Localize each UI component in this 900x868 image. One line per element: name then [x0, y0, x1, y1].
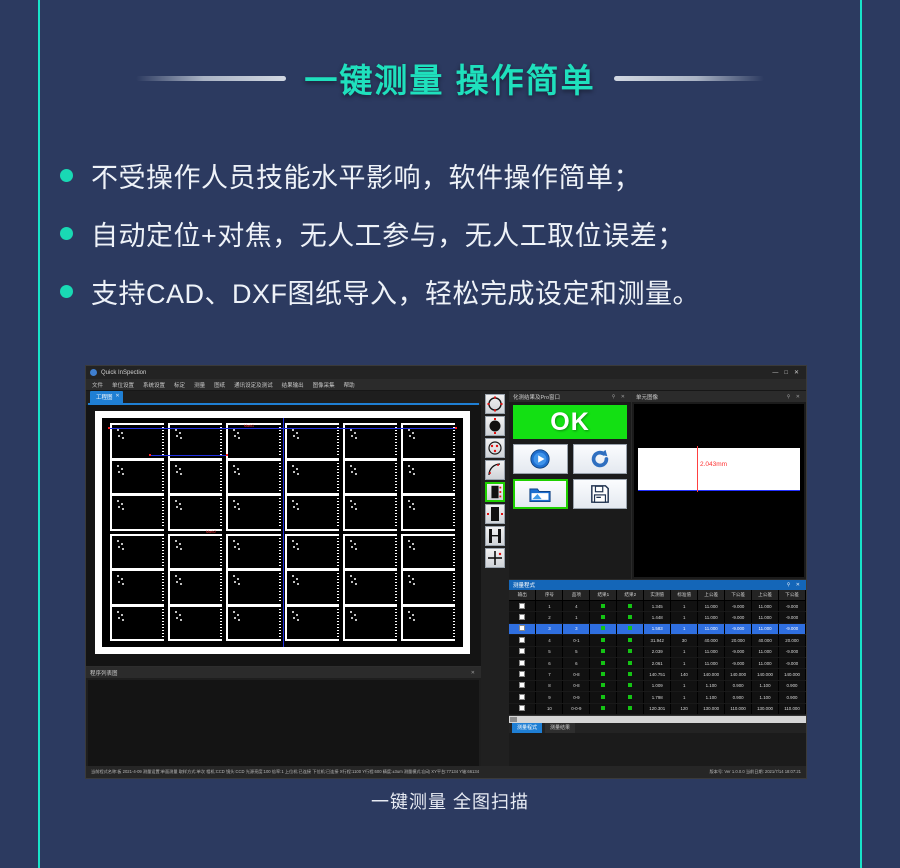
status-indicator [617, 623, 644, 634]
measure-line-vertical [283, 418, 284, 647]
table-cell: 0-0-9 [563, 703, 590, 714]
pcb-unit [401, 496, 455, 529]
table-row[interactable]: 80-81.00911.1000.9001.1000.900 [509, 680, 806, 691]
panel-title: 程序列表图 [90, 669, 118, 677]
table-cell: 140 [671, 669, 698, 680]
row-checkbox[interactable] [509, 623, 536, 634]
pcb-unit [110, 607, 164, 640]
status-indicator [617, 601, 644, 612]
table-cell: 9 [536, 692, 563, 703]
table-cell: 11.000 [752, 612, 779, 623]
accent-line-right [860, 0, 862, 868]
panel-header: 单元图像 ⚲ ✕ [632, 391, 806, 402]
table-cell: 1.798 [644, 692, 671, 703]
table-cell: 1 [671, 623, 698, 634]
status-indicator [590, 692, 617, 703]
pcb-unit [401, 461, 455, 494]
open-button[interactable] [513, 479, 568, 509]
table-cell: 1 [671, 680, 698, 691]
pcb-unit [226, 496, 280, 529]
menu-item-system-settings[interactable]: 系统设置 [143, 381, 165, 389]
status-indicator [590, 623, 617, 634]
status-indicator [590, 635, 617, 646]
vertical-gap-icon[interactable] [485, 482, 505, 502]
table-cell: 31.942 [644, 635, 671, 646]
table-cell: 0.900 [725, 692, 752, 703]
status-text: OK [550, 408, 590, 437]
pcb-unit [168, 536, 222, 569]
table-cell: 5 [563, 646, 590, 657]
table-row[interactable]: 662.061111.000-9.00011.000-9.000 [509, 657, 806, 668]
close-icon[interactable]: ✕ [471, 670, 477, 676]
measure-value: 2.043mm [700, 461, 727, 468]
table-row[interactable]: 141.345111.000-9.00011.000-9.000 [509, 601, 806, 612]
pin-icon[interactable]: ⚲ [787, 582, 793, 588]
table-cell: 1.100 [752, 692, 779, 703]
table-cell: 10 [536, 703, 563, 714]
table-cell: 11.000 [752, 623, 779, 634]
col-output: 输出 [509, 590, 536, 601]
col-result2: 结果2 [617, 590, 644, 601]
camera-view[interactable]: 2.043mm [634, 404, 804, 577]
mark-point-icon [226, 454, 228, 456]
table-cell: 20.000 [779, 635, 806, 646]
action-buttons [509, 439, 631, 514]
col-upper-tol-2: 上公差 [752, 590, 779, 601]
status-indicator [590, 657, 617, 668]
pcb-unit [168, 461, 222, 494]
list-item: 支持CAD、DXF图纸导入，轻松完成设定和测量。 [60, 262, 850, 320]
close-icon[interactable]: ✕ [796, 394, 802, 400]
horizontal-scrollbar[interactable] [509, 715, 806, 723]
table-row[interactable]: 70-8140.751140140.000140.000140.000140.0… [509, 669, 806, 680]
right-top-row: 化测结果及Pro窗口 ⚲ ✕ OK [509, 391, 806, 579]
menu-item-output[interactable]: 结果输出 [282, 381, 304, 389]
table-cell: 6 [536, 657, 563, 668]
panel-header: 程序列表图 ✕ [86, 667, 481, 678]
menu-item-file[interactable]: 文件 [92, 381, 103, 389]
run-button[interactable] [513, 444, 568, 474]
status-badge: OK [513, 405, 627, 439]
status-indicator [590, 646, 617, 657]
pcb-unit [343, 536, 397, 569]
mark-point-icon [455, 427, 457, 429]
table-cell: 110.000 [779, 703, 806, 714]
measure-line [697, 446, 698, 492]
mark-point-icon [149, 454, 151, 456]
cad-column: 工程图 ✕ [86, 391, 481, 779]
pcb-unit [285, 607, 339, 640]
list-item: 不受操作人员技能水平影响，软件操作简单； [60, 146, 850, 204]
minimize-button[interactable]: — [772, 370, 778, 376]
status-indicator [617, 612, 644, 623]
tab-drawing[interactable]: 工程图 ✕ [90, 391, 123, 403]
table-cell: 3 [536, 623, 563, 634]
panel-content[interactable] [88, 680, 479, 777]
page-title: 一键测量 操作简单 [304, 54, 595, 102]
col-item: 品项 [563, 590, 590, 601]
menu-item-measure[interactable]: 测量 [194, 381, 205, 389]
table-row[interactable]: 211.448111.000-9.00011.000-9.000 [509, 612, 806, 623]
pcb-unit [110, 496, 164, 529]
table-cell: 1 [536, 601, 563, 612]
table-cell: 11.000 [752, 646, 779, 657]
panel-actions[interactable]: ⚲ ✕ [787, 582, 802, 588]
table-cell: 11.000 [752, 601, 779, 612]
menu-item-capture[interactable]: 图像采集 [313, 381, 335, 389]
close-icon[interactable]: ✕ [621, 394, 627, 400]
pcb-unit [226, 571, 280, 604]
menu-item-drawing[interactable]: 图纸 [214, 381, 225, 389]
col-lower-tol-2: 下公差 [779, 590, 806, 601]
circle-points-icon[interactable] [485, 438, 505, 458]
status-bar: 当前程式名称:板 2021-4-09 测量设置:单面测量 取样方式:单次 相机:… [86, 766, 806, 778]
table-cell: 140.000 [779, 669, 806, 680]
table-cell: 140.751 [644, 669, 671, 680]
table-row[interactable]: 40-131.9423040.00020.00040.00020.000 [509, 635, 806, 646]
table-cell: 140.000 [725, 669, 752, 680]
cad-viewport[interactable]: Mark1 Mark2 [86, 405, 481, 666]
row-checkbox[interactable] [509, 657, 536, 668]
mark-point-icon [108, 427, 110, 429]
menu-item-unit-settings[interactable]: 单位设置 [112, 381, 134, 389]
table-cell: -9.000 [725, 623, 752, 634]
cad-label-top: Mark1 [244, 424, 254, 428]
table-cell: 110.000 [725, 703, 752, 714]
app-titlebar: Quick InSpection — □ ✕ [86, 366, 806, 379]
close-button[interactable]: ✕ [794, 370, 799, 376]
pcb-unit [110, 536, 164, 569]
table-cell: -9.000 [725, 646, 752, 657]
table-cell: 1 [671, 692, 698, 703]
row-checkbox[interactable] [509, 692, 536, 703]
pcb-unit [401, 571, 455, 604]
table-cell: -9.000 [779, 601, 806, 612]
table-cell: -9.000 [725, 601, 752, 612]
pcb-unit [401, 536, 455, 569]
close-icon[interactable]: ✕ [796, 582, 802, 588]
table-cell: 11.000 [752, 657, 779, 668]
save-button[interactable] [573, 479, 628, 509]
table-cell: 40.000 [752, 635, 779, 646]
table-cell: 120 [671, 703, 698, 714]
pcb-unit [343, 607, 397, 640]
status-indicator [617, 703, 644, 714]
row-checkbox[interactable] [509, 669, 536, 680]
pcb-unit [343, 461, 397, 494]
status-indicator [617, 669, 644, 680]
status-indicator [590, 669, 617, 680]
row-checkbox[interactable] [509, 635, 536, 646]
table-cell: 20.000 [725, 635, 752, 646]
app-menubar: 文件 单位设置 系统设置 标定 测量 图纸 通讯设定及测试 结果输出 图像采集 … [86, 379, 806, 391]
panel-title: 测量程式 [513, 581, 535, 589]
status-indicator [617, 635, 644, 646]
table-cell: 4 [536, 635, 563, 646]
pcb-unit [343, 571, 397, 604]
cad-canvas[interactable]: Mark1 Mark2 [95, 411, 470, 654]
feature-text: 支持CAD、DXF图纸导入，轻松完成设定和测量。 [91, 272, 700, 311]
table-cell: 0-1 [563, 635, 590, 646]
edge-highlight [638, 490, 800, 491]
pcb-unit [110, 461, 164, 494]
table-cell: 0-8 [563, 669, 590, 680]
pcb-unit [343, 496, 397, 529]
table-cell: 140.000 [698, 669, 725, 680]
table-row[interactable]: 100-0-9120.301120130.000110.000130.00011… [509, 703, 806, 714]
measurement-table-panel: 测量程式 ⚲ ✕ 输出 序号 品项 结果1 [509, 579, 806, 779]
table-row[interactable]: 552.039111.000-9.00011.000-9.000 [509, 646, 806, 657]
table-cell: 7 [536, 669, 563, 680]
tab-measure-program[interactable]: 测量程式 [512, 723, 542, 733]
status-indicator [617, 646, 644, 657]
scrollbar-thumb[interactable] [510, 717, 517, 722]
image-panel: 单元图像 ⚲ ✕ 2.043mm [632, 391, 806, 579]
panel-title: 单元图像 [636, 393, 658, 401]
pcb-unit [285, 425, 339, 458]
table-cell: 1.100 [752, 680, 779, 691]
pcb-unit [401, 607, 455, 640]
right-column: 化测结果及Pro窗口 ⚲ ✕ OK [509, 391, 806, 779]
col-result1: 结果1 [590, 590, 617, 601]
table-cell: 1.100 [698, 680, 725, 691]
table-cell: 0.900 [779, 680, 806, 691]
status-indicator [590, 703, 617, 714]
status-indicator [590, 612, 617, 623]
bullet-dot-icon [60, 285, 73, 298]
panel-header: 测量程式 ⚲ ✕ [509, 580, 806, 590]
pcb-unit [168, 496, 222, 529]
table-cell: -9.000 [779, 623, 806, 634]
table-cell: 1 [671, 646, 698, 657]
app-screenshot: Quick InSpection — □ ✕ 文件 单位设置 系统设置 标定 测… [85, 365, 807, 779]
pcb-unit [226, 536, 280, 569]
app-body: 工程图 ✕ [86, 391, 806, 779]
bullet-dot-icon [60, 227, 73, 240]
status-indicator [617, 680, 644, 691]
table-cell: 0-9 [563, 692, 590, 703]
table-cell: 11.000 [698, 623, 725, 634]
close-icon[interactable]: ✕ [115, 393, 119, 399]
col-measured: 实测值 [644, 590, 671, 601]
table-cell: 0.900 [725, 680, 752, 691]
table-cell: 1.345 [644, 601, 671, 612]
table-cell: 1 [671, 657, 698, 668]
table-cell: 1 [671, 612, 698, 623]
table-cell: -9.000 [779, 612, 806, 623]
col-lower-tol-1: 下公差 [725, 590, 752, 601]
pcb-unit [226, 425, 280, 458]
table-cell: 11.000 [698, 601, 725, 612]
window-controls: — □ ✕ [772, 370, 802, 376]
pcb-unit [168, 571, 222, 604]
pcb-unit [226, 461, 280, 494]
table-cell: 1.009 [644, 680, 671, 691]
pcb-unit [110, 425, 164, 458]
table-cell: 5 [536, 646, 563, 657]
table-cell: 0-8 [563, 680, 590, 691]
tab-label: 工程图 [96, 395, 113, 401]
measure-line-inner [150, 455, 228, 456]
pcb-unit [226, 607, 280, 640]
list-item: 自动定位+对焦，无人工参与，无人工取位误差； [60, 204, 850, 262]
table-cell: -9.000 [725, 612, 752, 623]
circle-fit-icon[interactable] [485, 394, 505, 414]
measure-toolbar [481, 391, 509, 779]
app-logo-icon [90, 369, 97, 376]
pin-icon[interactable]: ⚲ [787, 394, 793, 400]
panel-actions[interactable]: ⚲ ✕ [612, 394, 627, 400]
maximize-button[interactable]: □ [784, 370, 788, 376]
row-checkbox[interactable] [509, 680, 536, 691]
arc-icon[interactable] [485, 460, 505, 480]
rectangle-icon[interactable] [485, 504, 505, 524]
row-checkbox[interactable] [509, 703, 536, 714]
pcb-unit [285, 536, 339, 569]
menu-item-calibration[interactable]: 标定 [174, 381, 185, 389]
table-cell: 140.000 [752, 669, 779, 680]
promo-page: 一键测量 操作简单 不受操作人员技能水平影响，软件操作简单； 自动定位+对焦，无… [0, 0, 900, 868]
footer-tabs: 测量程式 测量结果 [509, 723, 806, 733]
feature-list: 不受操作人员技能水平影响，软件操作简单； 自动定位+对焦，无人工参与，无人工取位… [60, 146, 850, 320]
table-cell: 0.900 [779, 692, 806, 703]
table-cell: 1 [563, 612, 590, 623]
table-row[interactable]: 90-91.79811.1000.9001.1000.900 [509, 692, 806, 703]
crosshair-icon[interactable] [485, 548, 505, 568]
cad-label-mid: Mark2 [206, 530, 216, 534]
table-cell: -9.000 [779, 646, 806, 657]
status-indicator [590, 601, 617, 612]
pcb-unit [401, 425, 455, 458]
table-body: 141.345111.000-9.00011.000-9.000211.4481… [509, 601, 806, 715]
status-indicator [617, 692, 644, 703]
table-cell: 6 [563, 657, 590, 668]
header-rule-right [614, 76, 764, 81]
table-cell: -9.000 [725, 657, 752, 668]
bullet-dot-icon [60, 169, 73, 182]
table-cell: 4 [563, 601, 590, 612]
col-index: 序号 [536, 590, 563, 601]
col-standard: 标准值 [671, 590, 698, 601]
table-cell: 120.301 [644, 703, 671, 714]
table-cell: 1.100 [698, 692, 725, 703]
image-caption: 一键测量 全图扫描 [0, 788, 900, 814]
pcb-unit [343, 425, 397, 458]
pcb-unit [285, 461, 339, 494]
table-cell: 130.000 [698, 703, 725, 714]
status-indicator [590, 680, 617, 691]
feature-text: 不受操作人员技能水平影响，软件操作简单； [91, 156, 641, 195]
table-cell: 1 [671, 601, 698, 612]
result-panel: 化测结果及Pro窗口 ⚲ ✕ OK [509, 391, 632, 579]
tab-measure-result[interactable]: 测量结果 [545, 723, 575, 733]
program-list-panel: 程序列表图 ✕ [86, 666, 481, 779]
table-cell: 2 [536, 612, 563, 623]
pin-icon[interactable]: ⚲ [612, 394, 618, 400]
width-measure-icon[interactable] [485, 526, 505, 546]
document-tabstrip: 工程图 ✕ [86, 391, 481, 403]
table-row[interactable]: 331.583111.000-9.00011.000-9.000 [509, 623, 806, 634]
status-indicator [617, 657, 644, 668]
app-title: Quick InSpection [101, 370, 146, 376]
table-header-row: 输出 序号 品项 结果1 结果2 实测值 标准值 上公差 下公差 上公差 下公差 [509, 590, 806, 601]
filled-circle-icon[interactable] [485, 416, 505, 436]
table-cell: 11.000 [698, 646, 725, 657]
row-checkbox[interactable] [509, 601, 536, 612]
table-cell: 2.039 [644, 646, 671, 657]
panel-title: 化测结果及Pro窗口 [513, 393, 560, 401]
panel-actions[interactable]: ⚲ ✕ [787, 394, 802, 400]
accent-line-left [38, 0, 40, 868]
pcb-unit [285, 496, 339, 529]
row-checkbox[interactable] [509, 612, 536, 623]
page-header: 一键测量 操作简单 [0, 52, 900, 104]
table-cell: 30 [671, 635, 698, 646]
pcb-unit [110, 571, 164, 604]
refresh-button[interactable] [573, 444, 628, 474]
menu-item-help[interactable]: 帮助 [344, 381, 355, 389]
measurement-table[interactable]: 输出 序号 品项 结果1 结果2 实测值 标准值 上公差 下公差 上公差 下公差 [509, 590, 806, 715]
menu-item-comm-test[interactable]: 通讯设定及测试 [234, 381, 273, 389]
row-checkbox[interactable] [509, 646, 536, 657]
pcb-unit [168, 607, 222, 640]
pcb-panel-graphic: Mark1 Mark2 [102, 418, 463, 647]
col-upper-tol-1: 上公差 [698, 590, 725, 601]
captured-feature [638, 448, 800, 490]
table-cell: 11.000 [698, 657, 725, 668]
header-rule-left [136, 76, 286, 81]
status-text-left: 当前程式名称:板 2021-4-09 测量设置:单面测量 取样方式:单次 相机:… [91, 769, 479, 775]
table-cell: 130.000 [752, 703, 779, 714]
table-cell: 8 [536, 680, 563, 691]
table-cell: 40.000 [698, 635, 725, 646]
table-cell: 3 [563, 623, 590, 634]
measure-line-top [108, 428, 457, 429]
status-text-right: 版本号: Ver 1.0.0.0 当前日期: 2021/7/14 18:07:2… [702, 769, 801, 775]
panel-header: 化测结果及Pro窗口 ⚲ ✕ [509, 391, 631, 402]
pcb-unit [285, 571, 339, 604]
table-cell: 2.061 [644, 657, 671, 668]
pcb-unit [168, 425, 222, 458]
table-cell: 11.000 [698, 612, 725, 623]
table-cell: 1.583 [644, 623, 671, 634]
feature-text: 自动定位+对焦，无人工参与，无人工取位误差； [91, 214, 685, 253]
table-cell: 1.448 [644, 612, 671, 623]
table-cell: -9.000 [779, 657, 806, 668]
